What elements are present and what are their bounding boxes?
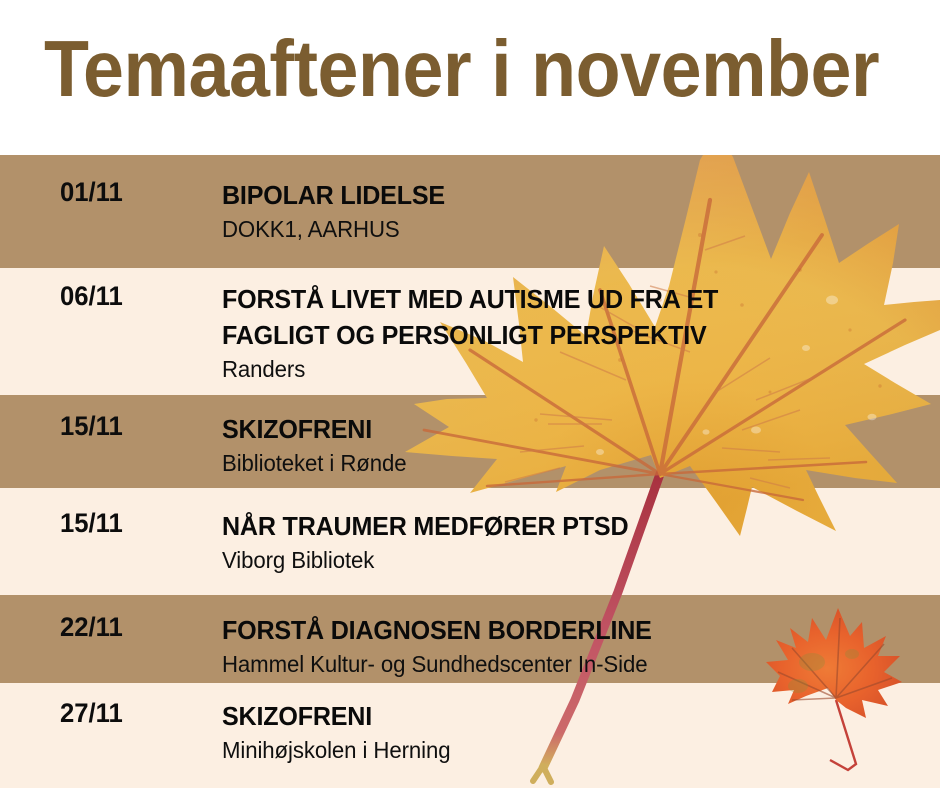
event-title-line: FAGLIGT OG PERSONLIGT PERSPEKTIV (222, 317, 905, 353)
event-venue: Randers (222, 353, 905, 385)
event-date: 15/11 (60, 411, 203, 442)
event-venue: Biblioteket i Rønde (222, 447, 905, 479)
poster-canvas: Temaaftener i november 01/11BIPOLAR LIDE… (0, 0, 940, 788)
event-body: FORSTÅ DIAGNOSEN BORDERLINEHammel Kultur… (222, 612, 930, 680)
event-body: NÅR TRAUMER MEDFØRER PTSDViborg Bibliote… (222, 508, 930, 576)
event-venue: Hammel Kultur- og Sundhedscenter In-Side (222, 648, 905, 680)
event-venue: Viborg Bibliotek (222, 544, 905, 576)
event-body: SKIZOFRENIBiblioteket i Rønde (222, 411, 930, 479)
event-title-line: SKIZOFRENI (222, 411, 905, 447)
event-title-line: BIPOLAR LIDELSE (222, 177, 905, 213)
event-body: BIPOLAR LIDELSEDOKK1, AARHUS (222, 177, 930, 245)
event-title-line: NÅR TRAUMER MEDFØRER PTSD (222, 508, 905, 544)
event-title-line: SKIZOFRENI (222, 698, 905, 734)
event-venue: Minihøjskolen i Herning (222, 734, 905, 766)
event-date: 27/11 (60, 698, 203, 729)
poster-header: Temaaftener i november (0, 0, 940, 155)
event-body: FORSTÅ LIVET MED AUTISME UD FRA ETFAGLIG… (222, 281, 930, 385)
event-date: 22/11 (60, 612, 203, 643)
event-date: 15/11 (60, 508, 203, 539)
event-date: 01/11 (60, 177, 203, 208)
event-title-line: FORSTÅ DIAGNOSEN BORDERLINE (222, 612, 905, 648)
event-body: SKIZOFRENIMinihøjskolen i Herning (222, 698, 930, 766)
event-title-line: FORSTÅ LIVET MED AUTISME UD FRA ET (222, 281, 905, 317)
page-title: Temaaftener i november (44, 21, 879, 117)
event-date: 06/11 (60, 281, 203, 312)
event-venue: DOKK1, AARHUS (222, 213, 905, 245)
